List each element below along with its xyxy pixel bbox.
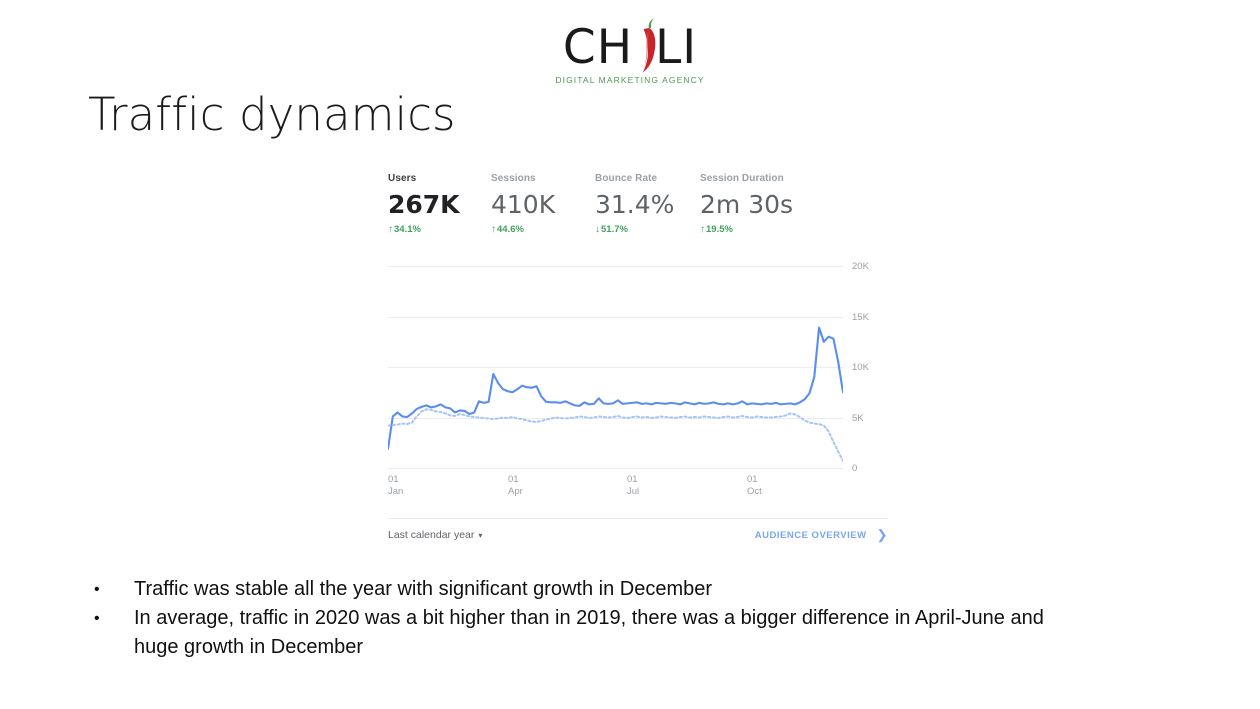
audience-overview-link[interactable]: AUDIENCE OVERVIEW❯	[755, 528, 888, 543]
chart-xtick-label: 01Apr	[508, 474, 523, 497]
metrics-row: Users267K↑34.1%Sessions410K↑44.6%Bounce …	[388, 172, 888, 242]
chart-xtick-day: 01	[627, 474, 639, 486]
metric-label: Session Duration	[700, 172, 793, 185]
metric-delta-value: 19.5%	[706, 224, 733, 235]
chart-xtick-label: 01Jul	[627, 474, 639, 497]
chart-series-group	[388, 266, 843, 468]
traffic-chart: 20K15K10K5K0 01Jan01Apr01Jul01Oct	[388, 266, 888, 506]
bullet-item: •Traffic was stable all the year with si…	[88, 575, 1088, 604]
chart-xtick-day: 01	[388, 474, 403, 486]
bullet-list: •Traffic was stable all the year with si…	[88, 575, 1088, 662]
metric-users[interactable]: Users267K↑34.1%	[388, 172, 460, 236]
metric-delta-value: 34.1%	[394, 224, 421, 235]
metric-delta: ↑19.5%	[700, 224, 793, 236]
metric-value: 2m 30s	[700, 189, 793, 221]
bullet-item: •In average, traffic in 2020 was a bit h…	[88, 604, 1088, 662]
metric-label: Users	[388, 172, 460, 185]
date-range-label: Last calendar year	[388, 529, 474, 541]
chart-xtick-day: 01	[747, 474, 762, 486]
chart-xtick-month: Apr	[508, 486, 523, 498]
brand-logo: CHLI DIGITAL MARKETING AGENCY	[0, 24, 1260, 85]
chart-gridline	[388, 468, 843, 469]
logo-text-first: CH	[563, 20, 633, 75]
page-title: Traffic dynamics	[88, 86, 456, 144]
chart-xtick-day: 01	[508, 474, 523, 486]
chart-series-2019	[388, 409, 843, 461]
metric-bounce-rate[interactable]: Bounce Rate31.4%↓51.7%	[595, 172, 674, 236]
logo-wordmark: CHLI	[563, 24, 697, 74]
chart-xtick-month: Jan	[388, 486, 403, 498]
card-footer: Last calendar year▾ AUDIENCE OVERVIEW❯	[388, 526, 888, 550]
metric-session-duration[interactable]: Session Duration2m 30s↑19.5%	[700, 172, 793, 236]
chart-xtick-month: Oct	[747, 486, 762, 498]
arrow-up-icon: ↑	[491, 224, 496, 235]
logo-tagline: DIGITAL MARKETING AGENCY	[0, 75, 1260, 85]
bullet-text: Traffic was stable all the year with sig…	[134, 578, 712, 600]
arrow-up-icon: ↑	[388, 224, 393, 235]
chart-ytick-label: 15K	[852, 312, 869, 323]
chart-xtick-month: Jul	[627, 486, 639, 498]
metric-label: Bounce Rate	[595, 172, 674, 185]
chart-series-2020	[388, 328, 843, 449]
chart-ytick-label: 5K	[852, 413, 864, 424]
chart-ytick-label: 10K	[852, 362, 869, 373]
chart-ytick-label: 0	[852, 463, 857, 474]
bullet-marker: •	[94, 604, 100, 633]
chart-plot-area: 20K15K10K5K0	[388, 266, 843, 468]
metric-delta: ↓51.7%	[595, 224, 674, 236]
audience-overview-label: AUDIENCE OVERVIEW	[755, 530, 867, 541]
metric-label: Sessions	[491, 172, 555, 185]
logo-text-last: LI	[655, 20, 697, 75]
metric-value: 410K	[491, 189, 555, 221]
metric-value: 267K	[388, 189, 460, 221]
chart-xtick-label: 01Jan	[388, 474, 403, 497]
card-divider	[388, 518, 888, 519]
chart-ytick-label: 20K	[852, 261, 869, 272]
slide-canvas: CHLI DIGITAL MARKETING AGENCY Traffic dy…	[0, 0, 1260, 709]
metric-delta: ↑34.1%	[388, 224, 460, 236]
date-range-selector[interactable]: Last calendar year▾	[388, 528, 482, 543]
bullet-marker: •	[94, 575, 100, 604]
metric-value: 31.4%	[595, 189, 674, 221]
metric-sessions[interactable]: Sessions410K↑44.6%	[491, 172, 555, 236]
analytics-card: Users267K↑34.1%Sessions410K↑44.6%Bounce …	[382, 166, 890, 552]
bullet-text: In average, traffic in 2020 was a bit hi…	[134, 607, 1044, 658]
chart-xtick-label: 01Oct	[747, 474, 762, 497]
chevron-down-icon: ▾	[478, 531, 482, 540]
arrow-down-icon: ↓	[595, 224, 600, 235]
metric-delta: ↑44.6%	[491, 224, 555, 236]
arrow-up-icon: ↑	[700, 224, 705, 235]
metric-delta-value: 51.7%	[601, 224, 628, 235]
chevron-right-icon: ❯	[877, 527, 888, 542]
metric-delta-value: 44.6%	[497, 224, 524, 235]
